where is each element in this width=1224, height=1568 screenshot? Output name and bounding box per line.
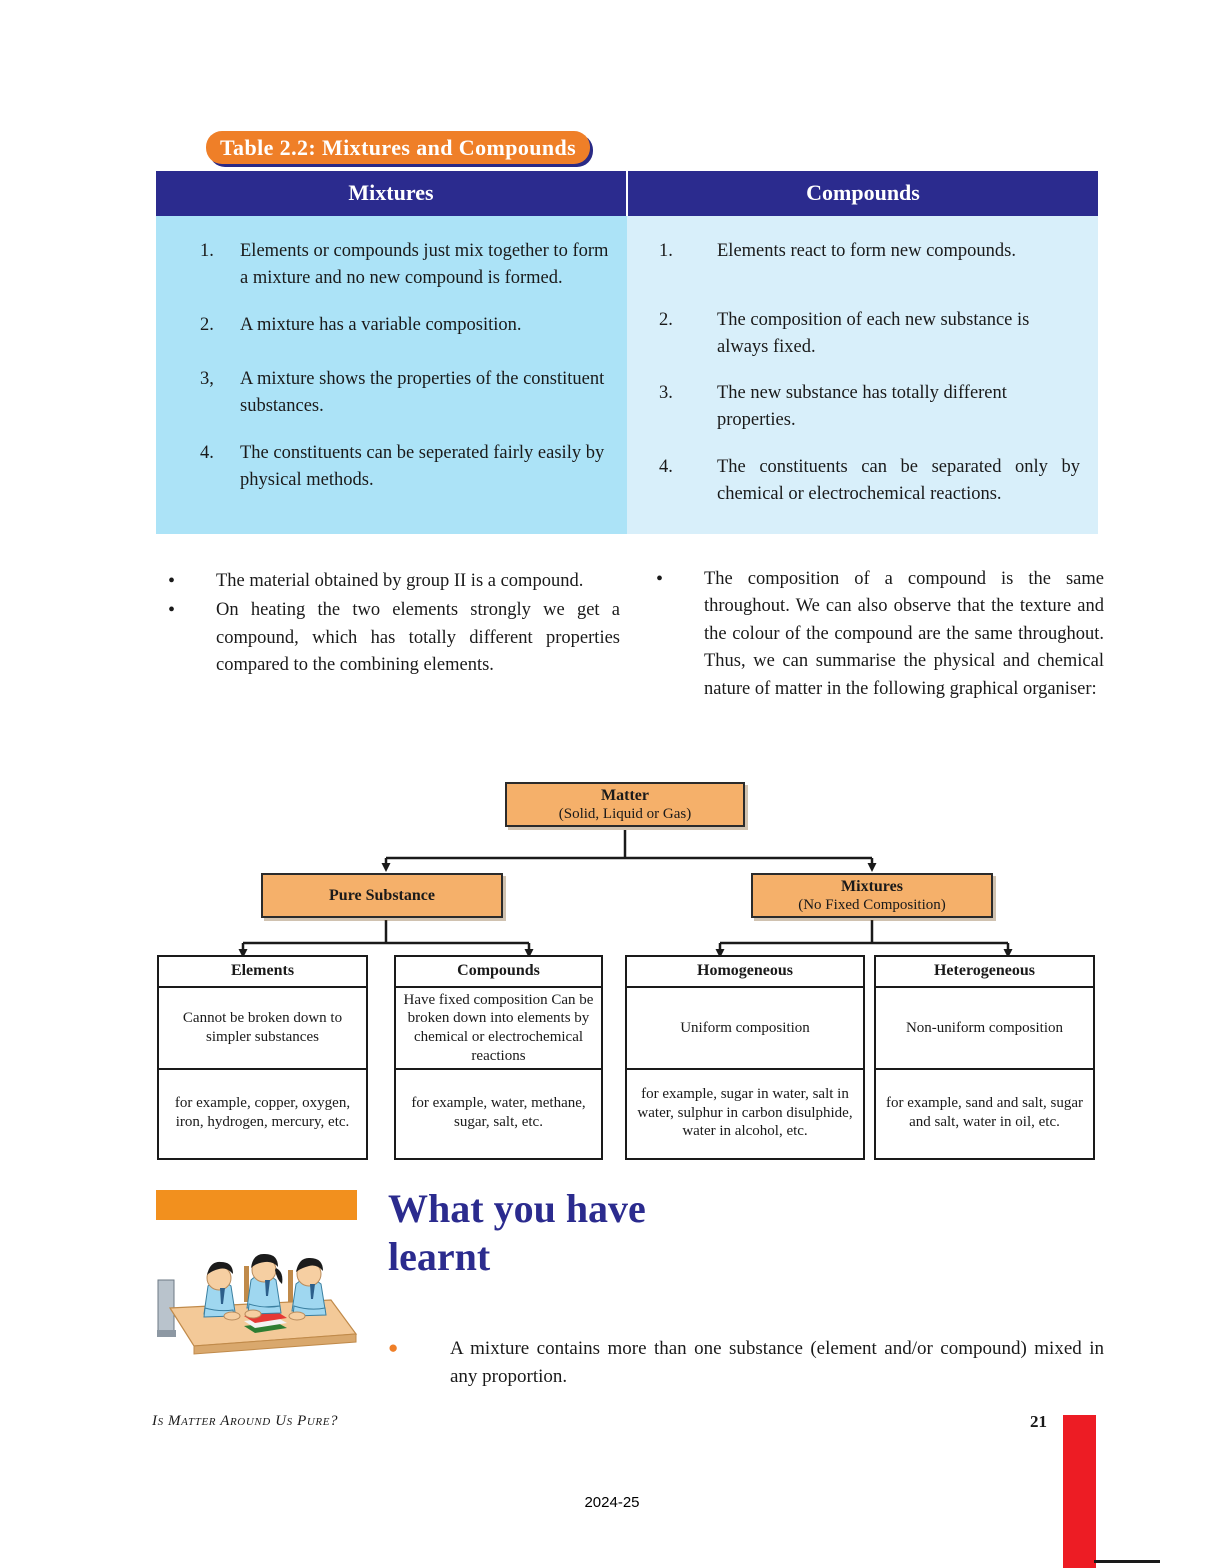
list-item: 2. A mixture has a variable composition.	[166, 312, 609, 339]
learnt-bullet-text: A mixture contains more than one substan…	[450, 1335, 1104, 1390]
column-header-mixtures: Mixtures	[156, 171, 627, 216]
list-item-number: 2.	[166, 312, 240, 339]
flow-leaf-description: Non-uniform composition	[876, 988, 1093, 1070]
list-item-text: Elements react to form new compounds.	[717, 238, 1080, 265]
flow-leaf-header: Heterogeneous	[876, 957, 1093, 988]
list-item: • The material obtained by group II is a…	[168, 568, 620, 595]
flow-node-mixtures: Mixtures (No Fixed Composition)	[751, 873, 993, 918]
flow-node-subtitle: (No Fixed Composition)	[753, 896, 991, 914]
list-item: 2. The composition of each new substance…	[637, 307, 1080, 361]
list-item-number: 4.	[637, 454, 717, 508]
flow-leaf-header: Compounds	[396, 957, 601, 988]
flow-leaf-examples: for example, copper, oxygen, iron, hydro…	[159, 1070, 366, 1156]
list-item-text: The new substance has totally different …	[717, 380, 1080, 434]
mixtures-compounds-table: Mixtures Compounds 1. Elements or compou…	[156, 171, 1098, 534]
bottom-rule	[1094, 1560, 1160, 1563]
list-item: 3, A mixture shows the properties of the…	[166, 366, 609, 420]
flow-leaf-examples: for example, water, methane, sugar, salt…	[396, 1070, 601, 1156]
compounds-list: 1. Elements react to form new compounds.…	[627, 216, 1098, 534]
list-item-text: The constituents can be separated only b…	[717, 454, 1080, 508]
flow-leaf-description: Uniform composition	[627, 988, 863, 1070]
table-header-row: Mixtures Compounds	[156, 171, 1098, 216]
list-item-number: 4.	[166, 440, 240, 494]
cell-compounds: 1. Elements react to form new compounds.…	[627, 216, 1098, 534]
page-edge-accent	[1063, 1415, 1096, 1568]
list-item-number: 1.	[166, 238, 240, 292]
list-item: • On heating the two elements strongly w…	[168, 597, 620, 679]
bullet-icon: •	[168, 568, 216, 595]
flow-leaf-compounds: Compounds Have fixed composition Can be …	[394, 955, 603, 1160]
bullet-column-right: • The composition of a compound is the s…	[656, 566, 1104, 705]
flow-node-title: Mixtures	[753, 877, 991, 896]
bullet-icon: •	[168, 597, 216, 679]
flow-leaf-header: Homogeneous	[627, 957, 863, 988]
flow-node-title: Pure Substance	[263, 886, 501, 905]
table-title: Table 2.2: Mixtures and Compounds	[206, 131, 590, 164]
list-item: 4. The constituents can be seperated fai…	[166, 440, 609, 494]
students-at-desk-illustration	[156, 1222, 360, 1357]
flow-leaf-heterogeneous: Heterogeneous Non-uniform composition fo…	[874, 955, 1095, 1160]
footer-year: 2024-25	[0, 1494, 1224, 1511]
list-item: 3. The new substance has totally differe…	[637, 380, 1080, 434]
flow-node-matter: Matter (Solid, Liquid or Gas)	[505, 782, 745, 827]
flow-leaf-header: Elements	[159, 957, 366, 988]
flow-leaf-description: Have fixed composition Can be broken dow…	[396, 988, 601, 1070]
list-item-text: A mixture shows the properties of the co…	[240, 366, 609, 420]
column-header-compounds: Compounds	[627, 171, 1098, 216]
learnt-list-item: ● A mixture contains more than one subst…	[388, 1335, 1104, 1390]
list-item-number: 1.	[637, 238, 717, 265]
mixtures-list: 1. Elements or compounds just mix togeth…	[156, 216, 627, 520]
bullet-text: The material obtained by group II is a c…	[216, 568, 620, 595]
list-item-text: The composition of each new substance is…	[717, 307, 1080, 361]
bullet-text: On heating the two elements strongly we …	[216, 597, 620, 679]
flow-leaf-homogeneous: Homogeneous Uniform composition for exam…	[625, 955, 865, 1160]
list-item-number: 3.	[637, 380, 717, 434]
flow-leaf-examples: for example, sugar in water, salt in wat…	[627, 1070, 863, 1156]
table-body-row: 1. Elements or compounds just mix togeth…	[156, 216, 1098, 534]
list-item: 4. The constituents can be separated onl…	[637, 454, 1080, 508]
list-item: • The composition of a compound is the s…	[656, 566, 1104, 703]
spacer	[637, 285, 1080, 307]
section-accent-bar	[156, 1190, 357, 1220]
section-heading: What you have learnt	[388, 1185, 648, 1281]
list-item-number: 3,	[166, 366, 240, 420]
bullet-text: The composition of a compound is the sam…	[704, 566, 1104, 703]
list-item-number: 2.	[637, 307, 717, 361]
spacer	[166, 358, 609, 366]
list-item-text: The constituents can be seperated fairly…	[240, 440, 609, 494]
flow-leaf-elements: Elements Cannot be broken down to simple…	[157, 955, 368, 1160]
flow-node-title: Matter	[507, 786, 743, 805]
matter-classification-flowchart: Matter (Solid, Liquid or Gas) Pure Subst…	[155, 775, 1097, 1175]
cell-mixtures: 1. Elements or compounds just mix togeth…	[156, 216, 627, 534]
footer-chapter-title: Is Matter Around Us Pure?	[152, 1413, 338, 1430]
list-item-text: A mixture has a variable composition.	[240, 312, 609, 339]
list-item-text: Elements or compounds just mix together …	[240, 238, 609, 292]
list-item: 1. Elements or compounds just mix togeth…	[166, 238, 609, 292]
flow-node-pure-substance: Pure Substance	[261, 873, 503, 918]
flow-node-subtitle: (Solid, Liquid or Gas)	[507, 805, 743, 823]
bullet-icon: ●	[388, 1335, 450, 1390]
page-number: 21	[1030, 1412, 1047, 1432]
flow-leaf-description: Cannot be broken down to simpler substan…	[159, 988, 366, 1070]
bullet-column-left: • The material obtained by group II is a…	[168, 568, 620, 682]
list-item: 1. Elements react to form new compounds.	[637, 238, 1080, 265]
bullet-icon: •	[656, 566, 704, 703]
flow-leaf-examples: for example, sand and salt, sugar and sa…	[876, 1070, 1093, 1156]
